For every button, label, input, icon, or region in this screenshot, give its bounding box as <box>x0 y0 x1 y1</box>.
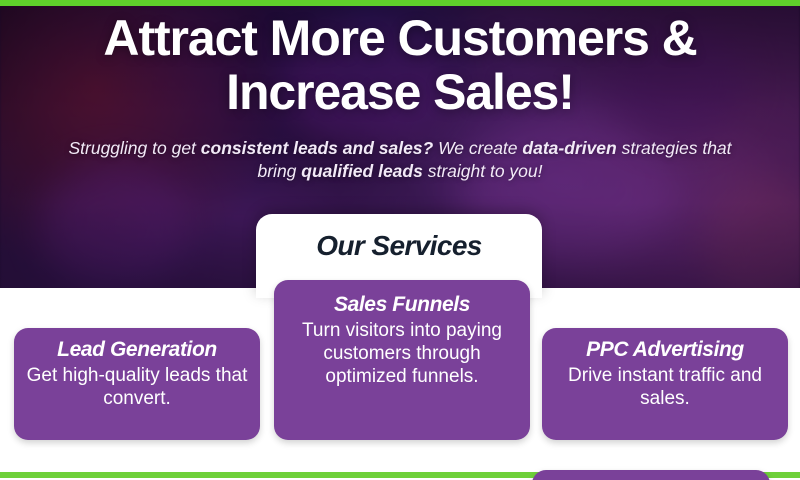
hero-title-line-2: Increase Sales! <box>226 64 574 120</box>
landing-page-root: Attract More Customers & Increase Sales!… <box>0 0 800 480</box>
service-card-sales-funnels[interactable]: Sales Funnels Turn visitors into paying … <box>274 280 530 440</box>
service-card-ppc-advertising[interactable]: PPC Advertising Drive instant traffic an… <box>542 328 788 440</box>
service-card-below-fold-partial[interactable] <box>532 470 770 480</box>
hero-subtitle: Struggling to get consistent leads and s… <box>40 137 760 184</box>
service-card-description: Turn visitors into paying customers thro… <box>286 319 518 389</box>
hero-subtitle-text: We create <box>433 138 522 158</box>
service-card-title: Sales Funnels <box>286 293 518 317</box>
service-card-description: Drive instant traffic and sales. <box>554 364 776 410</box>
hero-title-line-1: Attract More Customers & <box>103 10 696 66</box>
service-card-title: Lead Generation <box>26 338 248 362</box>
service-card-title: PPC Advertising <box>554 338 776 362</box>
service-card-description: Get high-quality leads that convert. <box>26 364 248 410</box>
hero-title: Attract More Customers & Increase Sales! <box>0 12 800 119</box>
top-accent-bar <box>0 0 800 6</box>
hero-subtitle-text: Struggling to get <box>68 138 200 158</box>
service-card-lead-generation[interactable]: Lead Generation Get high-quality leads t… <box>14 328 260 440</box>
hero-subtitle-emphasis: qualified leads <box>301 161 423 181</box>
our-services-heading: Our Services <box>316 230 482 262</box>
hero-subtitle-text: straight to you! <box>423 161 543 181</box>
hero-subtitle-emphasis: data-driven <box>522 138 616 158</box>
hero-subtitle-emphasis: consistent leads and sales? <box>201 138 433 158</box>
